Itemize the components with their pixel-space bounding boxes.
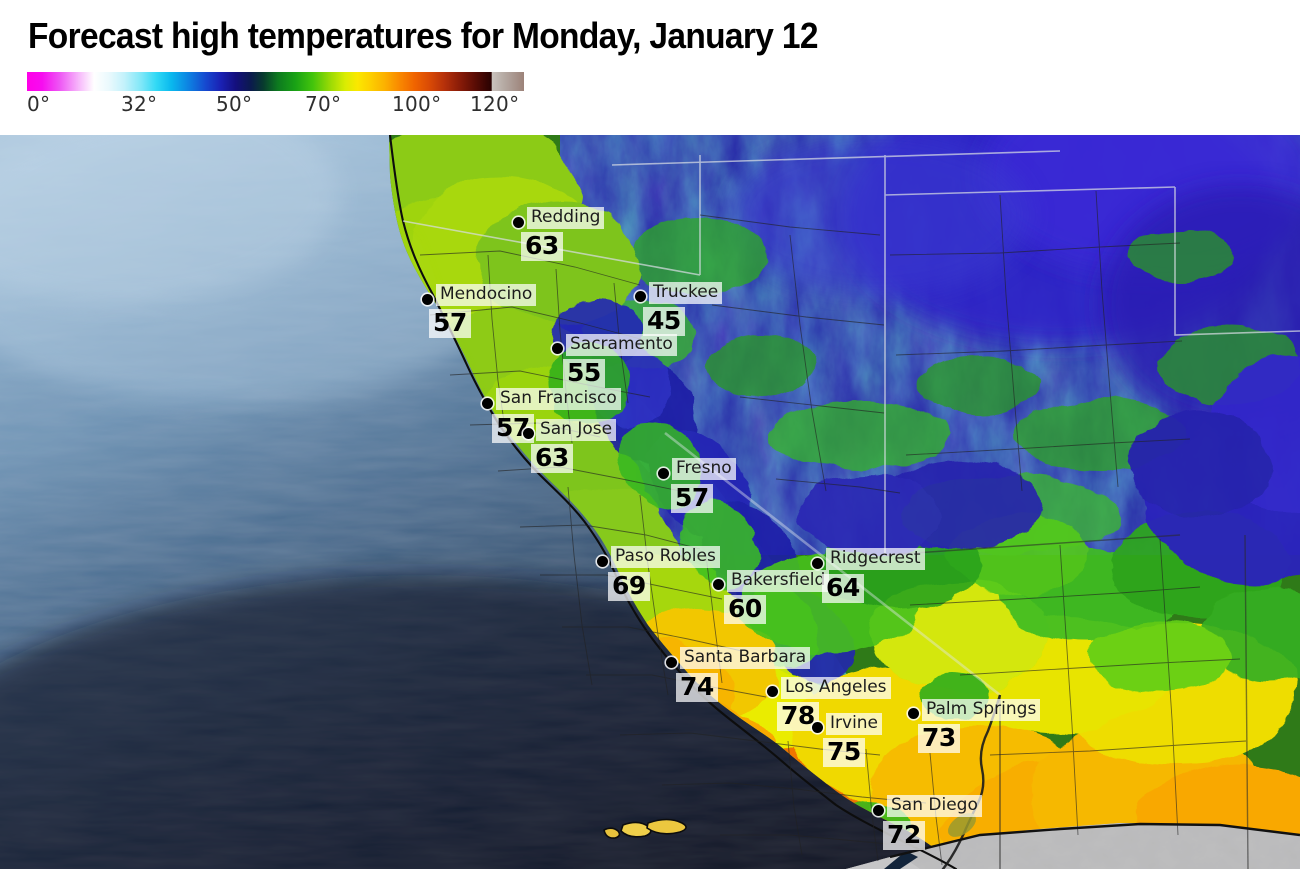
city-dot xyxy=(666,657,677,668)
city-dot xyxy=(635,291,646,302)
legend-tick-120: 120° xyxy=(470,92,519,116)
city-temperature: 75 xyxy=(823,738,865,767)
city-temperature: 57 xyxy=(429,309,471,338)
city-dot xyxy=(422,294,433,305)
city-dot xyxy=(597,556,608,567)
header: Forecast high temperatures for Monday, J… xyxy=(0,0,1300,135)
weather-forecast-map-page: Forecast high temperatures for Monday, J… xyxy=(0,0,1300,869)
city-temperature: 64 xyxy=(822,574,864,603)
city-label: San Francisco xyxy=(496,388,621,410)
city-dot xyxy=(812,722,823,733)
city-temperature: 69 xyxy=(608,572,650,601)
legend-tick-70: 70° xyxy=(305,92,341,116)
city-dot xyxy=(873,805,884,816)
city-label: Truckee xyxy=(649,282,722,304)
city-dot xyxy=(552,343,563,354)
city-temperature: 55 xyxy=(563,359,605,388)
city-dot xyxy=(767,686,778,697)
legend-tick-32: 32° xyxy=(121,92,157,116)
forecast-map[interactable]: Redding 63 Mendocino 57 Truckee 45 Sacra… xyxy=(0,135,1300,869)
legend-tick-50: 50° xyxy=(216,92,252,116)
city-temperature: 63 xyxy=(521,232,563,261)
city-label: Fresno xyxy=(672,458,736,480)
city-label: Redding xyxy=(527,207,604,229)
city-label: San Jose xyxy=(536,419,616,441)
city-temperature: 72 xyxy=(883,821,925,850)
legend-tick-0: 0° xyxy=(27,92,50,116)
city-label: Paso Robles xyxy=(611,546,720,568)
city-temperature: 60 xyxy=(724,595,766,624)
city-dot xyxy=(713,579,724,590)
city-label: Irvine xyxy=(826,713,882,735)
city-dot xyxy=(658,468,669,479)
city-temperature: 73 xyxy=(918,724,960,753)
city-temperature: 74 xyxy=(676,673,718,702)
city-label: Santa Barbara xyxy=(680,647,810,669)
city-temperature: 57 xyxy=(671,484,713,513)
city-temperature: 63 xyxy=(531,444,573,473)
city-dot xyxy=(908,708,919,719)
city-label: Mendocino xyxy=(436,284,536,306)
city-label: Los Angeles xyxy=(781,677,891,699)
legend-tick-100: 100° xyxy=(392,92,441,116)
page-title: Forecast high temperatures for Monday, J… xyxy=(28,14,818,58)
city-label: Palm Springs xyxy=(922,699,1040,721)
temperature-color-bar xyxy=(27,72,524,91)
city-label: Bakersfield xyxy=(727,570,829,592)
city-label: Sacramento xyxy=(566,334,677,356)
city-dot xyxy=(513,217,524,228)
temperature-legend xyxy=(27,72,524,91)
map-canvas xyxy=(0,135,1300,869)
city-dot xyxy=(812,558,823,569)
city-label: San Diego xyxy=(887,795,982,817)
city-dot xyxy=(523,428,534,439)
city-dot xyxy=(482,398,493,409)
city-temperature: 45 xyxy=(643,307,685,336)
city-label: Ridgecrest xyxy=(826,548,925,570)
